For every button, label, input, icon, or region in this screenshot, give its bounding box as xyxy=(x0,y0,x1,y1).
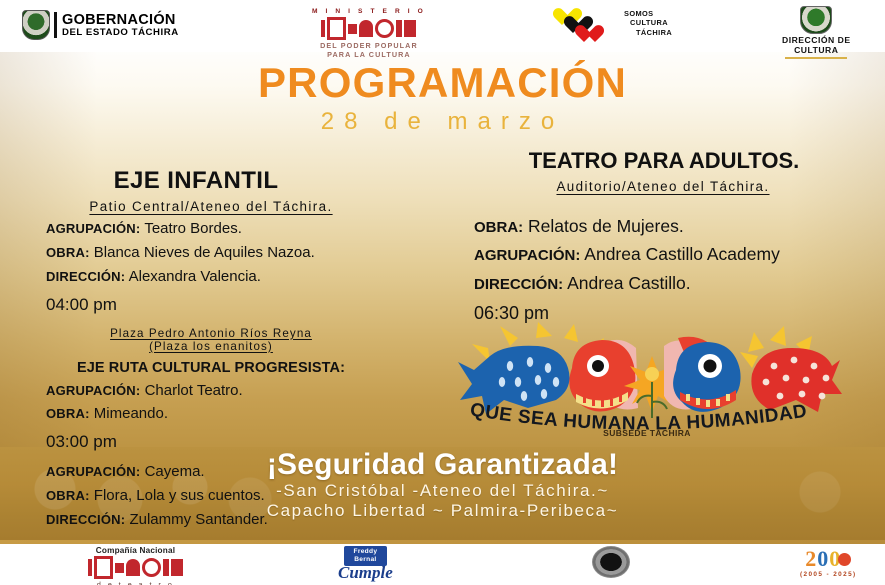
three-hearts-icon: SOMOS CULTURA TÁCHIRA xyxy=(552,9,626,43)
header-logo-band: GOBERNACIÓN DEL ESTADO TÁCHIRA M I N I S… xyxy=(0,0,885,52)
left-entry-line: DIRECCIÓN: Alexandra Valencia. xyxy=(46,266,406,288)
footer-logo-band: Compañía Nacional d e t e a t r o Freddy… xyxy=(0,540,885,585)
footer-divider xyxy=(0,540,885,544)
logo-direccion-cultura: DIRECCIÓN DE CULTURA xyxy=(782,6,851,59)
left-label-direccion-3: DIRECCIÓN: xyxy=(46,512,125,527)
somos-line1: SOMOS xyxy=(624,9,672,18)
direccion-underline xyxy=(785,57,847,59)
left-venue-2-line1: Plaza Pedro Antonio Ríos Reyna xyxy=(46,327,376,340)
cnt-line2: d e t e a t r o xyxy=(97,580,175,585)
right-value-agrupacion: Andrea Castillo Academy xyxy=(584,244,780,264)
left-entry-line: OBRA: Blanca Nieves de Aquiles Nazoa. xyxy=(46,242,406,264)
left-value-agrupacion-3: Cayema. xyxy=(145,463,205,480)
right-entry-line: OBRA: Relatos de Mujeres. xyxy=(474,212,885,240)
left-subheading: EJE RUTA CULTURAL PROGRESISTA: xyxy=(46,360,376,376)
right-venue: Auditorio/Ateneo del Táchira. xyxy=(556,179,769,194)
cumple-line2: Bernal xyxy=(354,556,378,564)
right-entry-line: DIRECCIÓN: Andrea Castillo. xyxy=(474,269,885,297)
diablos-danzantes-emblem-icon: QUE SEA HUMANA LA HUMANIDAD SUBSEDE TÁCH… xyxy=(452,322,842,447)
logo-compania-nacional-teatro: Compañía Nacional d e t e a t r o xyxy=(88,546,183,585)
section-teatro-adultos: TEATRO PARA ADULTOS. Auditorio/Ateneo de… xyxy=(474,148,885,324)
ministerio-line3: PARA LA CULTURA xyxy=(327,50,411,59)
direccion-shield-icon xyxy=(800,6,832,34)
left-entry-line: AGRUPACIÓN: Teatro Bordes. xyxy=(46,218,406,240)
logo-circular-seal xyxy=(592,546,630,578)
right-label-obra: OBRA: xyxy=(474,219,523,236)
cnt-glyph-icon xyxy=(88,556,183,579)
right-label-agrupacion: AGRUPACIÓN: xyxy=(474,247,580,264)
page-subtitle-date: 28 de marzo xyxy=(0,110,885,134)
left-entry-line: AGRUPACIÓN: Cayema. xyxy=(46,461,406,483)
left-section-heading: EJE INFANTIL xyxy=(46,168,346,194)
left-label-obra-3: OBRA: xyxy=(46,488,90,503)
cumple-wordmark: Cumple xyxy=(338,563,393,583)
left-entry-line: OBRA: Mimeando. xyxy=(46,403,406,425)
right-label-direccion: DIRECCIÓN: xyxy=(474,276,563,293)
somos-line2: CULTURA xyxy=(630,18,672,27)
left-value-direccion-3: Zulammy Santander. xyxy=(129,511,267,528)
emblem-subtitle: SUBSEDE TÁCHIRA xyxy=(452,428,842,438)
left-label-agrupacion-1: AGRUPACIÓN: xyxy=(46,221,140,236)
seal-icon xyxy=(592,546,630,578)
page-title: PROGRAMACIÓN xyxy=(0,62,885,104)
poster-canvas: GOBERNACIÓN DEL ESTADO TÁCHIRA M I N I S… xyxy=(0,0,885,585)
right-entry-line: AGRUPACIÓN: Andrea Castillo Academy xyxy=(474,240,885,268)
left-label-direccion-1: DIRECCIÓN: xyxy=(46,269,125,284)
right-time: 06:30 pm xyxy=(474,303,885,324)
left-value-obra-3: Flora, Lola y sus cuentos. xyxy=(94,487,265,504)
logo-20-anios: 200 (2005 - 2025) xyxy=(800,546,857,578)
ministerio-line2: DEL PODER POPULAR xyxy=(320,41,418,50)
left-label-agrupacion-3: AGRUPACIÓN: xyxy=(46,464,140,479)
logo-gobernacion: GOBERNACIÓN DEL ESTADO TÁCHIRA xyxy=(22,10,179,40)
left-label-obra-2: OBRA: xyxy=(46,406,90,421)
gobernacion-shield-icon xyxy=(22,10,50,40)
right-value-obra: Relatos de Mujeres. xyxy=(528,216,684,236)
left-time-2: 03:00 pm xyxy=(46,429,406,455)
left-value-direccion-1: Alexandra Valencia. xyxy=(129,268,261,285)
divider xyxy=(54,12,57,38)
left-value-agrupacion-2: Charlot Teatro. xyxy=(145,382,243,399)
left-label-agrupacion-2: AGRUPACIÓN: xyxy=(46,383,140,398)
left-venue-2-line2: (Plaza los enanitos) xyxy=(46,340,376,353)
gobernacion-subtitle: DEL ESTADO TÁCHIRA xyxy=(62,28,179,38)
poster-title-block: PROGRAMACIÓN 28 de marzo xyxy=(0,62,885,134)
left-value-agrupacion-1: Teatro Bordes. xyxy=(144,220,242,237)
ministerio-title: M I N I S T E R I O xyxy=(312,8,426,15)
cnt-line1: Compañía Nacional xyxy=(96,546,175,555)
left-entry-line: AGRUPACIÓN: Charlot Teatro. xyxy=(46,380,406,402)
right-value-direccion: Andrea Castillo. xyxy=(567,273,691,293)
right-section-heading: TEATRO PARA ADULTOS. xyxy=(474,148,854,174)
left-entry-line: OBRA: Flora, Lola y sus cuentos. xyxy=(46,485,406,507)
anniversary-years: (2005 - 2025) xyxy=(800,571,857,578)
anniversary-glyph-icon: 200 xyxy=(805,546,851,570)
left-entry-line: DIRECCIÓN: Zulammy Santander. xyxy=(46,509,406,531)
section-eje-infantil: EJE INFANTIL Patio Central/Ateneo del Tá… xyxy=(46,168,406,531)
somos-line3: TÁCHIRA xyxy=(636,28,672,37)
logo-freddy-bernal-cumple: Freddy Bernal Cumple xyxy=(338,546,393,583)
gobernacion-title: GOBERNACIÓN xyxy=(62,13,179,28)
logo-ministerio: M I N I S T E R I O DEL PODER POPULAR PA… xyxy=(312,8,426,59)
ministerio-glyph-icon xyxy=(321,17,416,40)
cumple-line1: Freddy xyxy=(354,548,378,556)
left-time-1: 04:00 pm xyxy=(46,292,406,318)
direccion-line2: CULTURA xyxy=(782,46,851,56)
logo-somos-cultura: SOMOS CULTURA TÁCHIRA xyxy=(552,9,626,43)
left-venue-1: Patio Central/Ateneo del Táchira. xyxy=(89,199,332,214)
left-value-obra-2: Mimeando. xyxy=(94,405,168,422)
left-label-obra-1: OBRA: xyxy=(46,245,90,260)
left-value-obra-1: Blanca Nieves de Aquiles Nazoa. xyxy=(94,244,315,261)
